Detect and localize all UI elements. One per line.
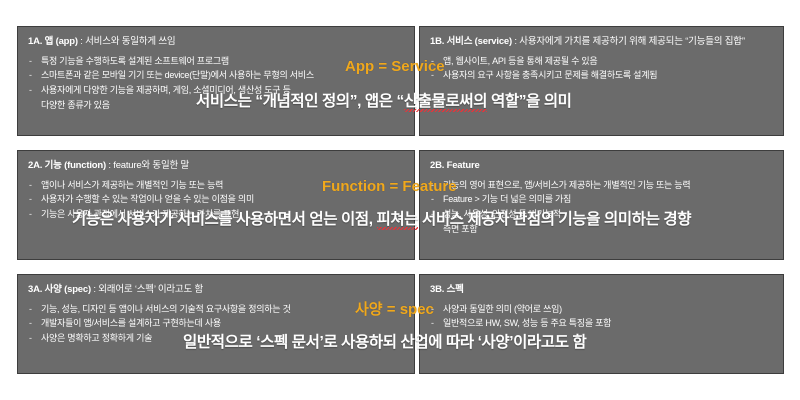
cell-2a-title: 2A. 기능 (function) : feature와 동일한 말 bbox=[28, 159, 404, 173]
bullet-dash: - bbox=[29, 68, 32, 83]
bullet-text: 사양과 동일한 의미 (약어로 쓰임) bbox=[443, 304, 562, 314]
comparison-table: 1A. 앱 (app) : 서비스와 동일하게 쓰임 -특정 기능을 수행하도록… bbox=[17, 26, 784, 374]
table-row: 2A. 기능 (function) : feature와 동일한 말 -앱이나 … bbox=[17, 150, 784, 260]
list-item: -사용자의 요구 사항을 충족시키고 문제를 해결하도록 설계됨 bbox=[430, 68, 773, 83]
list-item: -기능의 영어 표현으로, 앱/서비스가 제공하는 개별적인 기능 또는 능력 bbox=[430, 178, 773, 193]
list-item: -Feature > 기능 더 넓은 의미를 가짐 bbox=[430, 192, 773, 207]
bullet-dash: - bbox=[29, 54, 32, 69]
overlay-summary-row1: 서비스는 “개념적인 정의”, 앱은 “산출물로써의 역할”을 의미 bbox=[196, 89, 572, 111]
overlay-text-post: 서비스 제공자 관점의 기능을 의미하는 경향 bbox=[418, 211, 691, 228]
cell-3a-title: 3A. 사양 (spec) : 외래어로 ‘스펙’ 이라고도 함 bbox=[28, 283, 404, 297]
cell-1b-bullets: -앱, 웹사이트, API 등을 통해 제공될 수 있음 -사용자의 요구 사항… bbox=[430, 54, 773, 83]
equation-label-spec: 사양 = spec bbox=[355, 298, 434, 319]
bullet-text: 앱이나 서비스가 제공하는 개별적인 기능 또는 능력 bbox=[41, 180, 223, 190]
table-row: 3A. 사양 (spec) : 외래어로 ‘스펙’ 이라고도 함 -기능, 성능… bbox=[17, 274, 784, 374]
slide-canvas: 1A. 앱 (app) : 서비스와 동일하게 쓰임 -특정 기능을 수행하도록… bbox=[0, 0, 800, 400]
bullet-text: 사용자가 수행할 수 있는 작업이나 얻을 수 있는 이점을 의미 bbox=[41, 194, 254, 204]
bullet-text: 일반적으로 HW, SW, 성능 등 주요 특징을 포함 bbox=[443, 318, 611, 328]
overlay-text-flagged: 피쳐는 bbox=[377, 207, 419, 229]
overlay-text-post: 역할”을 의미 bbox=[487, 93, 571, 110]
cell-3b[interactable]: 3B. 스펙 -사양과 동일한 의미 (약어로 쓰임) -일반적으로 HW, S… bbox=[419, 274, 784, 374]
bullet-text: 개발자들이 앱/서비스를 설계하고 구현하는데 사용 bbox=[41, 318, 221, 328]
bullet-text: 기능, 성능, 디자인 등 앱이나 서비스의 기술적 요구사항을 정의하는 것 bbox=[41, 304, 291, 314]
equation-label-function-feature: Function = Feature bbox=[322, 178, 457, 195]
bullet-dash: - bbox=[29, 207, 32, 222]
list-item: -개발자들이 앱/서비스를 설계하고 구현하는데 사용 bbox=[28, 316, 404, 331]
cell-3a[interactable]: 3A. 사양 (spec) : 외래어로 ‘스펙’ 이라고도 함 -기능, 성능… bbox=[17, 274, 415, 374]
cell-1b-title-rest: : 사용자에게 가치를 제공하기 위해 제공되는 “기능들의 집합” bbox=[512, 36, 745, 47]
cell-3b-title-bold: 3B. 스펙 bbox=[430, 284, 464, 295]
overlay-text-flagged: 산출물로써의 bbox=[404, 89, 487, 111]
cell-2b-title: 2B. Feature bbox=[430, 159, 773, 173]
bullet-text: 앱, 웹사이트, API 등을 통해 제공될 수 있음 bbox=[443, 56, 597, 66]
overlay-text-pre: 서비스는 “개념적인 정의”, 앱은 “ bbox=[196, 93, 404, 110]
cell-1b-title-bold: 1B. 서비스 (service) bbox=[430, 36, 512, 47]
bullet-text: 스마트폰과 같은 모바일 기기 또는 device(단말)에서 사용하는 무형의… bbox=[41, 70, 314, 80]
list-item: -기능, 성능, 디자인 등 앱이나 서비스의 기술적 요구사항을 정의하는 것 bbox=[28, 302, 404, 317]
bullet-dash: - bbox=[29, 83, 32, 98]
bullet-text: Feature > 기능 더 넓은 의미를 가짐 bbox=[443, 194, 571, 204]
cell-3b-bullets: -사양과 동일한 의미 (약어로 쓰임) -일반적으로 HW, SW, 성능 등… bbox=[430, 302, 773, 331]
cell-3b-title: 3B. 스펙 bbox=[430, 283, 773, 297]
cell-3a-title-bold: 3A. 사양 (spec) bbox=[28, 284, 91, 295]
cell-2a-title-rest: : feature와 동일한 말 bbox=[106, 160, 189, 171]
bullet-text: 기능의 영어 표현으로, 앱/서비스가 제공하는 개별적인 기능 또는 능력 bbox=[443, 180, 690, 190]
cell-1a-title-rest: : 서비스와 동일하게 쓰임 bbox=[78, 36, 176, 47]
bullet-dash: - bbox=[29, 178, 32, 193]
cell-1b[interactable]: 1B. 서비스 (service) : 사용자에게 가치를 제공하기 위해 제공… bbox=[419, 26, 784, 136]
list-item: -앱, 웹사이트, API 등을 통해 제공될 수 있음 bbox=[430, 54, 773, 69]
bullet-text: 사양은 명확하고 정확하게 기술 bbox=[41, 333, 152, 343]
overlay-text-pre: 기능은 사용자가 서비스를 사용하면서 얻는 이점, bbox=[72, 211, 377, 228]
bullet-dash: - bbox=[29, 316, 32, 331]
list-item: -사양과 동일한 의미 (약어로 쓰임) bbox=[430, 302, 773, 317]
bullet-text: 다양한 종류가 있음 bbox=[41, 100, 110, 110]
cell-1b-title: 1B. 서비스 (service) : 사용자에게 가치를 제공하기 위해 제공… bbox=[430, 35, 773, 49]
cell-1a-title-bold: 1A. 앱 (app) bbox=[28, 36, 78, 47]
overlay-summary-row2: 기능은 사용자가 서비스를 사용하면서 얻는 이점, 피쳐는 서비스 제공자 관… bbox=[72, 207, 691, 229]
bullet-text: 특정 기능을 수행하도록 설계된 소프트웨어 프로그램 bbox=[41, 56, 229, 66]
bullet-dash: - bbox=[29, 331, 32, 346]
overlay-summary-row3: 일반적으로 ‘스펙 문서’로 사용하되 산업에 따라 ‘사양’이라고도 함 bbox=[183, 330, 586, 352]
cell-1a[interactable]: 1A. 앱 (app) : 서비스와 동일하게 쓰임 -특정 기능을 수행하도록… bbox=[17, 26, 415, 136]
cell-2a-title-bold: 2A. 기능 (function) bbox=[28, 160, 106, 171]
cell-2a[interactable]: 2A. 기능 (function) : feature와 동일한 말 -앱이나 … bbox=[17, 150, 415, 260]
bullet-dash: - bbox=[29, 302, 32, 317]
cell-2b[interactable]: 2B. Feature -기능의 영어 표현으로, 앱/서비스가 제공하는 개별… bbox=[419, 150, 784, 260]
cell-3a-title-rest: : 외래어로 ‘스펙’ 이라고도 함 bbox=[91, 284, 203, 295]
bullet-dash: - bbox=[29, 192, 32, 207]
equation-label-app-service: App = Service bbox=[345, 58, 445, 75]
bullet-text: 사용자의 요구 사항을 충족시키고 문제를 해결하도록 설계됨 bbox=[443, 70, 657, 80]
cell-2b-title-bold: 2B. Feature bbox=[430, 160, 480, 171]
list-item: -일반적으로 HW, SW, 성능 등 주요 특징을 포함 bbox=[430, 316, 773, 331]
table-row: 1A. 앱 (app) : 서비스와 동일하게 쓰임 -특정 기능을 수행하도록… bbox=[17, 26, 784, 136]
overlay-text-pre: 일반적으로 ‘스펙 문서’로 사용하되 산업에 따라 ‘사양’이라고도 함 bbox=[183, 334, 586, 351]
cell-1a-title: 1A. 앱 (app) : 서비스와 동일하게 쓰임 bbox=[28, 35, 404, 49]
